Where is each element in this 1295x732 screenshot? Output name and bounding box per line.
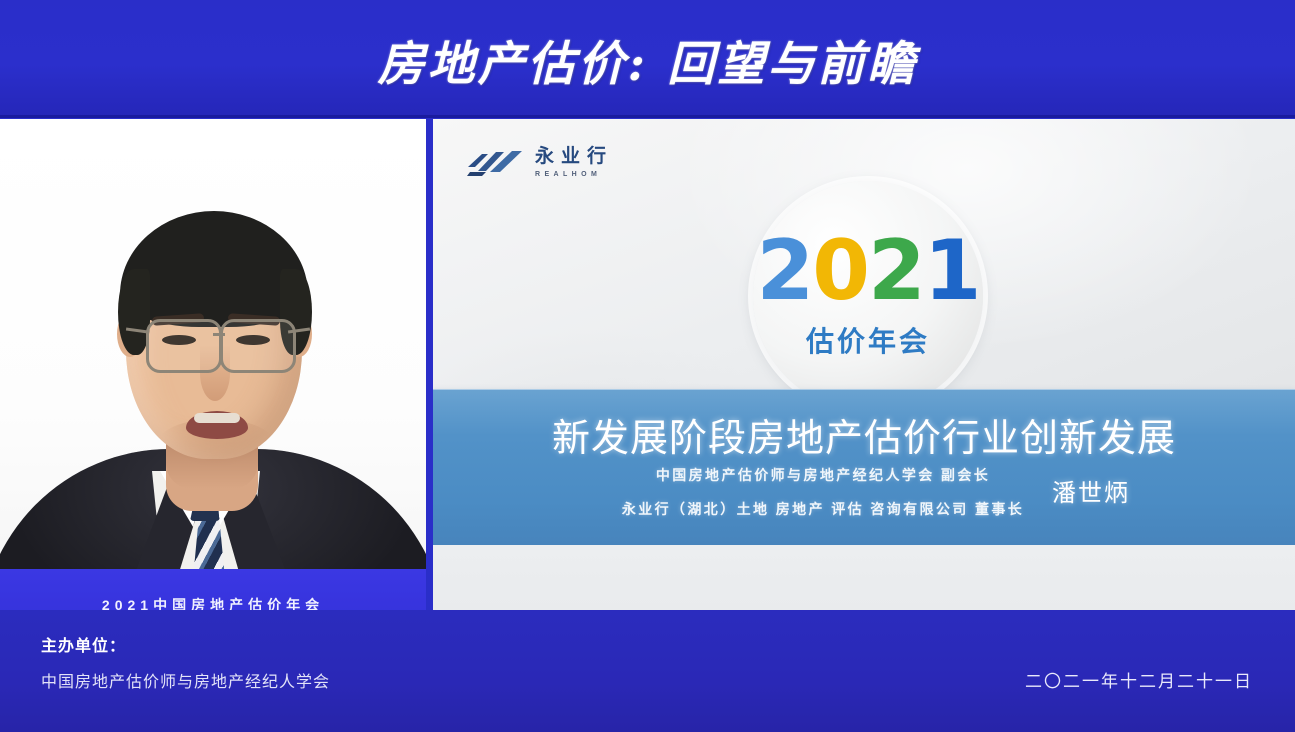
logo-chinese-name: 永业行	[535, 147, 613, 166]
banner-title: 房地产估价: 回望与前瞻	[0, 0, 1295, 118]
eyeglass-bridge	[213, 333, 225, 336]
eyeglass-lens-left	[146, 319, 222, 373]
badge-digit-1: 0	[812, 232, 868, 311]
yongyehang-logo-icon	[466, 150, 524, 176]
badge-year-2021: 2021	[756, 232, 979, 311]
annual-conference-badge: 2021 估价年会	[753, 181, 983, 411]
slide-title-band: 新发展阶段房地产估价行业创新发展 中国房地产估价师与房地产经纪人学会 副会长 永…	[433, 389, 1295, 545]
broadcast-screen: 房地产估价: 回望与前瞻	[0, 0, 1295, 732]
badge-digit-2: 2	[868, 232, 924, 311]
bottom-banner: 主办单位： 中国房地产估价师与房地产经纪人学会 二〇二一年十二月二十一日	[0, 610, 1295, 732]
slide-footer-area	[433, 545, 1295, 610]
speaker-name: 潘世炳	[1011, 473, 1171, 508]
slide-heading: 新发展阶段房地产估价行业创新发展	[433, 407, 1295, 462]
eyeglass-lens-right	[220, 319, 296, 373]
host-label: 主办单位：	[41, 633, 330, 661]
video-title-overlay: 2021中国房地产估价年会 房地产估价: 回望与前瞻	[0, 569, 426, 610]
teeth	[194, 413, 240, 423]
speaker-video-panel[interactable]: 2021中国房地产估价年会 房地产估价: 回望与前瞻	[0, 119, 426, 610]
badge-digit-0: 2	[756, 232, 812, 311]
event-date: 二〇二一年十二月二十一日	[1025, 667, 1253, 692]
speaker-portrait	[0, 119, 426, 610]
top-banner: 房地产估价: 回望与前瞻	[0, 0, 1295, 118]
logo-wordmark: 永业行 REALHOM	[535, 147, 613, 178]
badge-digit-3: 1	[924, 232, 980, 311]
presentation-slide-panel[interactable]: 永业行 REALHOM 2021 估价年会 新发展阶段房地产估价行业创新发展 中…	[433, 119, 1295, 610]
overlay-subtitle: 2021中国房地产估价年会	[0, 595, 426, 610]
badge-caption: 估价年会	[806, 320, 930, 360]
host-organization-block: 主办单位： 中国房地产估价师与房地产经纪人学会	[41, 633, 330, 697]
company-logo: 永业行 REALHOM	[466, 147, 613, 178]
host-name: 中国房地产估价师与房地产经纪人学会	[41, 669, 330, 697]
logo-english-name: REALHOM	[535, 171, 613, 178]
